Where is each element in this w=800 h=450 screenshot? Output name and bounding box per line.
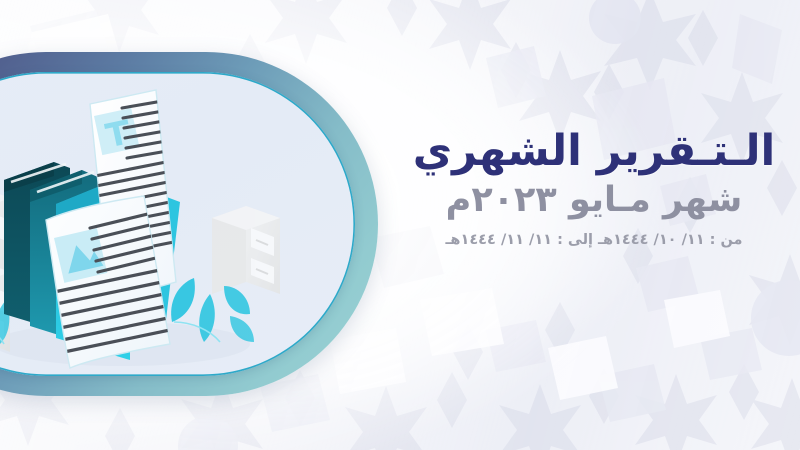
report-cover-slide: الـتـقرير الشهري شهر مـايو ٢٠٢٣م من : ١١… [0,0,800,450]
documents-illustration [0,72,355,376]
page-title: الـتـقرير الشهري [398,128,790,174]
card-inner-panel [0,72,355,376]
report-month-subtitle: شهر مـايو ٢٠٢٣م [398,180,790,221]
hijri-date-range: من : ١١/ ١٠/ ١٤٤٤هـ إلى : ١١/ ١١/ ١٤٤٤هـ [398,231,790,250]
filing-cabinet-short-right [212,206,280,294]
illustration-card [0,52,378,396]
cover-text-block: الـتـقرير الشهري شهر مـايو ٢٠٢٣م من : ١١… [398,128,790,250]
